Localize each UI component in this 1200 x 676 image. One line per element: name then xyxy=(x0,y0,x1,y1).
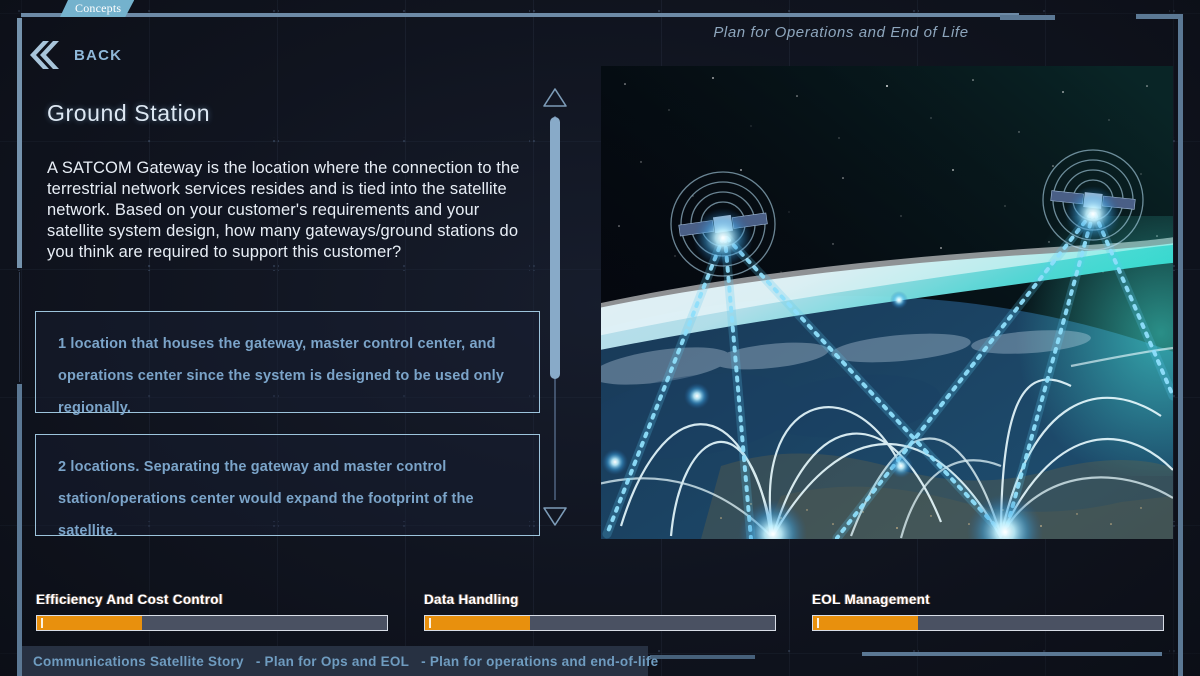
meter-start-tick xyxy=(41,618,43,628)
scroll-down-button[interactable] xyxy=(542,506,568,528)
meter-start-tick xyxy=(429,618,431,628)
page-title: Ground Station xyxy=(47,100,210,127)
meter-bar xyxy=(36,615,388,631)
scroll-up-button[interactable] xyxy=(542,86,568,108)
meter-label: EOL Management xyxy=(812,592,1164,607)
double-chevron-left-icon xyxy=(26,38,60,72)
answer-option-1[interactable]: 1 location that houses the gateway, mast… xyxy=(35,311,540,413)
meter-fill xyxy=(425,616,530,630)
meter-fill xyxy=(37,616,142,630)
breadcrumb-spacer-1 xyxy=(244,654,256,669)
meter-bar xyxy=(424,615,776,631)
right-frame-edge xyxy=(1178,14,1183,676)
app-root: Concepts BACK Plan for Operations and En… xyxy=(0,0,1200,676)
meter-eol-management: EOL Management xyxy=(812,592,1164,631)
meter-fill xyxy=(813,616,918,630)
breadcrumb-item-section[interactable]: - Plan for Ops and EOL xyxy=(256,654,409,669)
left-accent-hairline xyxy=(19,272,20,382)
meter-data-handling: Data Handling xyxy=(424,592,776,631)
meter-start-tick xyxy=(817,618,819,628)
breadcrumb-spacer-2 xyxy=(409,654,421,669)
breadcrumb-item-current: - Plan for operations and end-of-life xyxy=(421,654,658,669)
answer-option-2[interactable]: 2 locations. Separating the gateway and … xyxy=(35,434,540,536)
meter-label: Efficiency And Cost Control xyxy=(36,592,388,607)
meter-label: Data Handling xyxy=(424,592,776,607)
bottom-rule-mid xyxy=(650,655,755,659)
section-title: Plan for Operations and End of Life xyxy=(626,24,1056,41)
meter-efficiency-and-cost-control: Efficiency And Cost Control xyxy=(36,592,388,631)
prompt-text: A SATCOM Gateway is the location where t… xyxy=(47,158,537,263)
left-accent-bar-top xyxy=(17,18,22,268)
left-accent-bar-bottom xyxy=(17,384,22,676)
breadcrumb-item-story[interactable]: Communications Satellite Story xyxy=(33,654,244,669)
meter-bar xyxy=(812,615,1164,631)
scrollbar-thumb[interactable] xyxy=(550,117,560,379)
back-button-label: BACK xyxy=(74,47,122,64)
tab-concepts[interactable]: Concepts xyxy=(60,0,134,17)
top-rule xyxy=(21,13,1019,17)
breadcrumb: Communications Satellite Story - Plan fo… xyxy=(22,646,648,676)
back-button[interactable]: BACK xyxy=(26,36,146,74)
hero-image xyxy=(601,66,1173,539)
top-right-bracket-stub xyxy=(1000,15,1055,20)
bottom-rule-right xyxy=(862,652,1162,656)
